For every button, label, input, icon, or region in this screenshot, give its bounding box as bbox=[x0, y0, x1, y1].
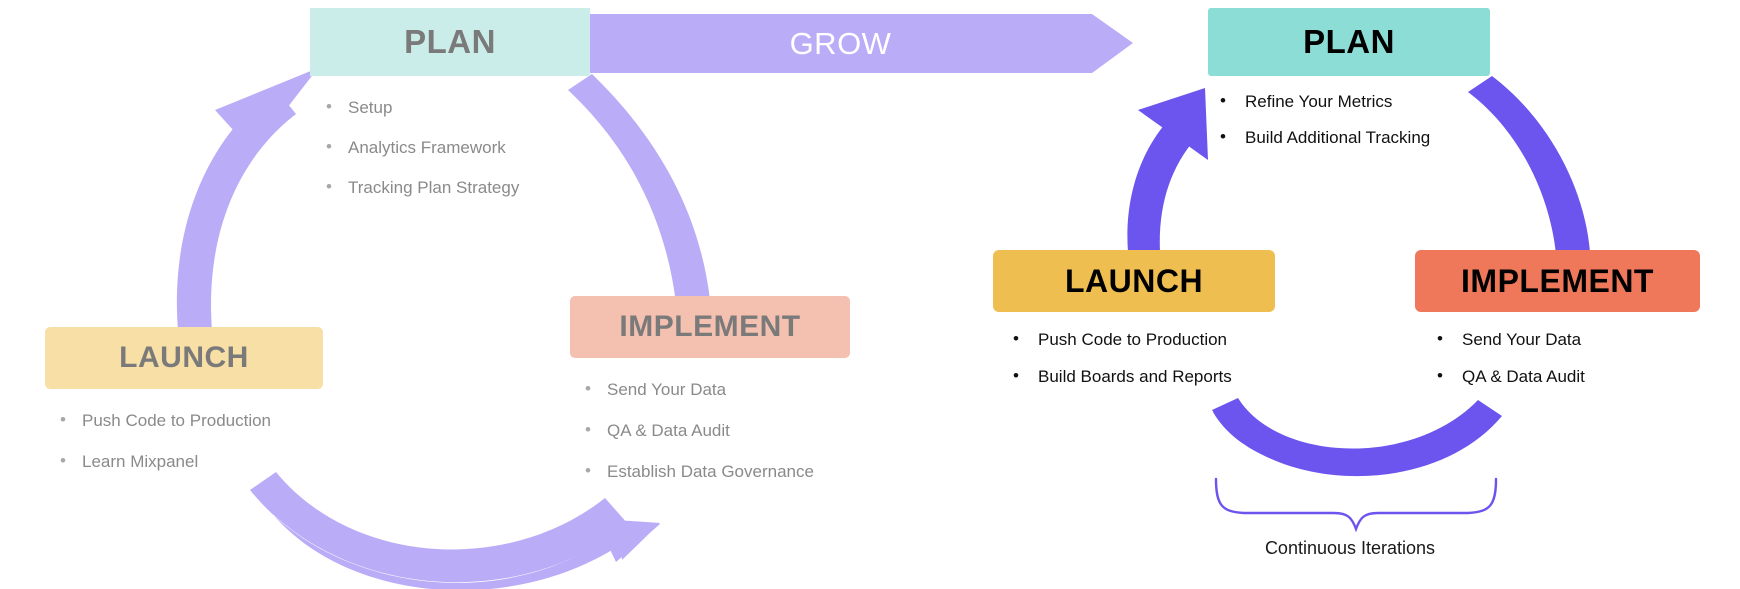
list-item: • Send Your Data bbox=[585, 380, 850, 400]
list-item: • Learn Mixpanel bbox=[60, 452, 323, 472]
list-item-label: Establish Data Governance bbox=[607, 462, 814, 482]
node-implement-right[interactable]: IMPLEMENT • Send Your Data • QA & Data A… bbox=[1415, 250, 1700, 404]
continuous-iterations-brace bbox=[1216, 479, 1496, 529]
node-plan-left[interactable]: PLAN • Setup • Analytics Framework • Tra… bbox=[310, 8, 590, 218]
list-item: • Setup bbox=[326, 98, 590, 118]
list-item-label: Setup bbox=[348, 98, 392, 118]
node-plan-left-items: • Setup • Analytics Framework • Tracking… bbox=[310, 98, 590, 198]
list-item-label: Send Your Data bbox=[1462, 330, 1581, 350]
bullet-icon: • bbox=[1013, 330, 1038, 347]
list-item-label: Learn Mixpanel bbox=[82, 452, 198, 472]
grow-banner: GROW bbox=[588, 14, 1133, 73]
arrow-launch-to-plan-left bbox=[177, 88, 296, 330]
bullet-icon: • bbox=[1013, 367, 1038, 384]
bullet-icon: • bbox=[326, 138, 348, 155]
list-item: • Establish Data Governance bbox=[585, 462, 850, 482]
list-item-label: Tracking Plan Strategy bbox=[348, 178, 519, 198]
bullet-icon: • bbox=[1437, 367, 1462, 384]
list-item-label: Push Code to Production bbox=[82, 411, 271, 431]
node-launch-right-items: • Push Code to Production • Build Boards… bbox=[993, 330, 1275, 387]
node-launch-left-title: LAUNCH bbox=[45, 327, 323, 389]
bullet-icon: • bbox=[585, 380, 607, 397]
node-plan-right-title: PLAN bbox=[1208, 8, 1490, 76]
bullet-icon: • bbox=[326, 98, 348, 115]
bullet-icon: • bbox=[60, 411, 82, 428]
grow-banner-label: GROW bbox=[588, 14, 1093, 73]
list-item-label: Refine Your Metrics bbox=[1245, 92, 1392, 112]
arrowhead-bottom-left bbox=[596, 520, 660, 562]
continuous-iterations-label: Continuous Iterations bbox=[1215, 538, 1485, 559]
bullet-icon: • bbox=[1220, 92, 1245, 109]
list-item: • QA & Data Audit bbox=[1437, 367, 1700, 387]
list-item-label: Analytics Framework bbox=[348, 138, 506, 158]
list-item-label: Build Boards and Reports bbox=[1038, 367, 1232, 387]
node-implement-left-items: • Send Your Data • QA & Data Audit • Est… bbox=[570, 380, 850, 482]
node-launch-left-items: • Push Code to Production • Learn Mixpan… bbox=[45, 411, 323, 472]
list-item-label: Build Additional Tracking bbox=[1245, 128, 1430, 148]
bullet-icon: • bbox=[60, 452, 82, 469]
list-item: • Push Code to Production bbox=[60, 411, 323, 431]
node-launch-right-title: LAUNCH bbox=[993, 250, 1275, 312]
list-item: • Send Your Data bbox=[1437, 330, 1700, 350]
bullet-icon: • bbox=[1220, 128, 1245, 145]
node-launch-right[interactable]: LAUNCH • Push Code to Production • Build… bbox=[993, 250, 1275, 404]
list-item: • Build Boards and Reports bbox=[1013, 367, 1275, 387]
list-item: • Build Additional Tracking bbox=[1220, 128, 1490, 148]
list-item: • Refine Your Metrics bbox=[1220, 92, 1490, 112]
list-item: • Push Code to Production bbox=[1013, 330, 1275, 350]
node-implement-right-title: IMPLEMENT bbox=[1415, 250, 1700, 312]
bullet-icon: • bbox=[1437, 330, 1462, 347]
arrowhead-launch-to-plan-right bbox=[1138, 88, 1208, 160]
node-launch-left[interactable]: LAUNCH • Push Code to Production • Learn… bbox=[45, 327, 323, 493]
node-plan-right[interactable]: PLAN • Refine Your Metrics • Build Addit… bbox=[1208, 8, 1490, 164]
list-item-label: Send Your Data bbox=[607, 380, 726, 400]
arrow-bottom-arc-right bbox=[1212, 398, 1502, 476]
list-item-label: QA & Data Audit bbox=[1462, 367, 1585, 387]
list-item-label: QA & Data Audit bbox=[607, 421, 730, 441]
bullet-icon: • bbox=[585, 462, 607, 479]
bullet-icon: • bbox=[326, 178, 348, 195]
list-item: • Analytics Framework bbox=[326, 138, 590, 158]
arrow-implement-to-launch-left bbox=[252, 492, 660, 589]
arrow-implement-to-launch-right bbox=[1213, 408, 1500, 473]
arrowhead-launch-to-plan-left bbox=[215, 68, 318, 152]
node-implement-left[interactable]: IMPLEMENT • Send Your Data • QA & Data A… bbox=[570, 296, 850, 503]
node-plan-right-items: • Refine Your Metrics • Build Additional… bbox=[1208, 92, 1490, 148]
arrow-launch-to-plan-right bbox=[1127, 116, 1196, 252]
list-item-label: Push Code to Production bbox=[1038, 330, 1227, 350]
list-item: • Tracking Plan Strategy bbox=[326, 178, 590, 198]
node-implement-left-title: IMPLEMENT bbox=[570, 296, 850, 358]
node-implement-right-items: • Send Your Data • QA & Data Audit bbox=[1415, 330, 1700, 387]
diagram-canvas: GROW PLAN • Setup • Analytics Framework … bbox=[0, 0, 1740, 589]
bullet-icon: • bbox=[585, 421, 607, 438]
list-item: • QA & Data Audit bbox=[585, 421, 850, 441]
node-plan-left-title: PLAN bbox=[310, 8, 590, 76]
